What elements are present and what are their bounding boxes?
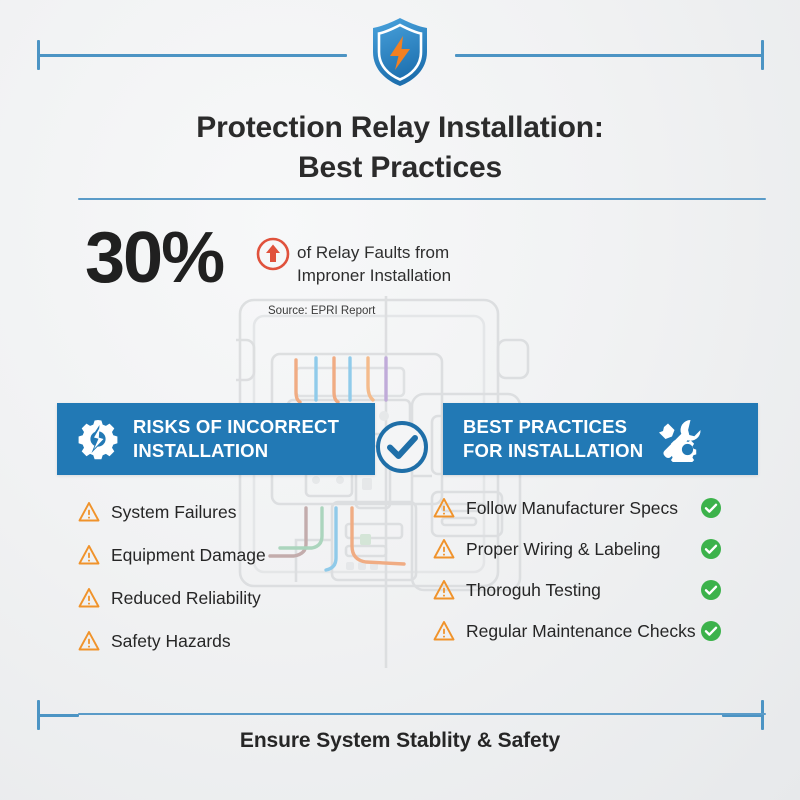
list-item-label: Reduced Reliability — [111, 588, 261, 609]
practices-banner-title-line1: BEST PRACTICES — [463, 415, 643, 439]
stat-description-line2: Improner Installation — [297, 264, 557, 287]
risks-banner-title-line1: RISKS OF INCORRECT — [133, 415, 339, 439]
footer-divider — [78, 713, 766, 715]
list-item[interactable]: Equipment Damage — [78, 539, 328, 571]
warning-triangle-icon — [78, 630, 100, 652]
bracket-tick-bottom-left — [37, 700, 40, 730]
list-item[interactable]: Safety Hazards — [78, 625, 328, 657]
list-item[interactable]: Proper Wiring & Labeling — [433, 533, 718, 565]
list-item-label: Equipment Damage — [111, 545, 266, 566]
bracket-line-top-left — [37, 54, 347, 57]
list-item[interactable]: Regular Maintenance Checks — [433, 615, 718, 647]
check-circle-icon — [374, 419, 430, 475]
list-item[interactable]: Thoroguh Testing — [433, 574, 718, 606]
risks-banner-title-line2: INSTALLATION — [133, 439, 339, 463]
warning-triangle-icon — [78, 501, 100, 523]
check-circle-green-icon — [701, 621, 721, 641]
warning-triangle-icon — [78, 587, 100, 609]
warning-triangle-icon — [433, 620, 455, 642]
list-item-label: System Failures — [111, 502, 236, 523]
arrow-up-icon — [256, 237, 290, 271]
stat-source: Source: EPRI Report — [268, 305, 375, 317]
infographic-page: Protection Relay Installation: Best Prac… — [0, 0, 800, 800]
shield-bolt-logo — [369, 16, 431, 88]
list-item-label: Safety Hazards — [111, 631, 231, 652]
page-title-line2: Best Practices — [0, 148, 800, 188]
bracket-line-top-right — [455, 54, 764, 57]
stat-description-line1: of Relay Faults from — [297, 241, 557, 264]
bracket-tick-top-right — [761, 40, 764, 70]
stat-description: of Relay Faults from Improner Installati… — [297, 241, 557, 288]
warning-triangle-icon — [433, 579, 455, 601]
risks-banner-title: RISKS OF INCORRECT INSTALLATION — [133, 415, 339, 462]
check-circle-green-icon — [701, 498, 721, 518]
list-item-label: Proper Wiring & Labeling — [466, 539, 661, 560]
warning-triangle-icon — [78, 544, 100, 566]
list-item[interactable]: Follow Manufacturer Specs — [433, 492, 718, 524]
list-item[interactable]: Reduced Reliability — [78, 582, 328, 614]
practices-banner-title-line2: FOR INSTALLATION — [463, 439, 643, 463]
page-title: Protection Relay Installation: Best Prac… — [0, 108, 800, 187]
stat-value: 30% — [85, 222, 265, 294]
bracket-tick-top-left — [37, 40, 40, 70]
wrench-gear-icon — [657, 416, 703, 462]
practices-list: Follow Manufacturer Specs Proper Wiring … — [433, 492, 718, 656]
list-item-label: Follow Manufacturer Specs — [466, 498, 678, 519]
practices-banner-title: BEST PRACTICES FOR INSTALLATION — [463, 415, 643, 462]
title-divider — [78, 198, 766, 200]
risks-list: System Failures Equipment Damage Reduced… — [78, 496, 328, 668]
bracket-tick-bottom-right — [761, 700, 764, 730]
bracket-line-bottom-left — [37, 714, 79, 717]
broken-gear-icon — [75, 416, 121, 462]
practices-banner[interactable]: BEST PRACTICES FOR INSTALLATION — [443, 403, 758, 475]
check-circle-green-icon — [701, 539, 721, 559]
warning-triangle-icon — [433, 497, 455, 519]
list-item[interactable]: System Failures — [78, 496, 328, 528]
risks-banner[interactable]: RISKS OF INCORRECT INSTALLATION — [57, 403, 375, 475]
footer-text: Ensure System Stablity & Safety — [0, 729, 800, 753]
list-item-label: Thoroguh Testing — [466, 580, 601, 601]
page-title-line1: Protection Relay Installation: — [196, 111, 603, 144]
list-item-label: Regular Maintenance Checks — [466, 621, 696, 642]
check-circle-green-icon — [701, 580, 721, 600]
warning-triangle-icon — [433, 538, 455, 560]
